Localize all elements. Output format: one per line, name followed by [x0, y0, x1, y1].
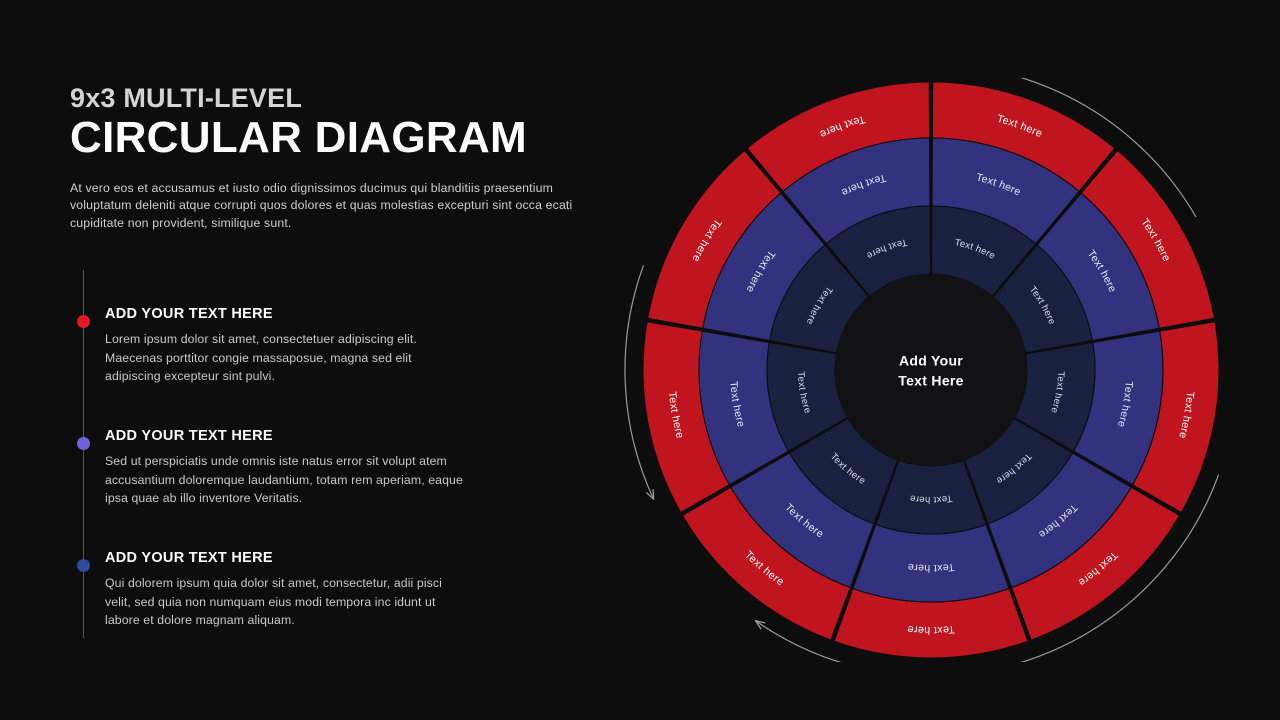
hub-label: Text Here — [898, 373, 963, 389]
bullet-dot-icon — [77, 559, 90, 572]
slide-root: 9x3 MULTI-LEVEL CIRCULAR DIAGRAM At vero… — [0, 0, 1280, 720]
page-title: CIRCULAR DIAGRAM — [70, 114, 630, 162]
hub-circle[interactable] — [835, 274, 1027, 466]
hub-label: Add Your — [899, 353, 963, 369]
list-item-title: ADD YOUR TEXT HERE — [105, 428, 590, 445]
segment-label-middle-5: Text here — [907, 561, 955, 574]
list-item-text: Qui dolorem ipsum quia dolor sit amet, c… — [105, 574, 465, 629]
segment-label-outer-5: Text here — [907, 623, 956, 636]
list-item[interactable]: ADD YOUR TEXT HERE Qui dolorem ipsum qui… — [70, 550, 590, 630]
list-item-title: ADD YOUR TEXT HERE — [105, 306, 590, 323]
list-item-title: ADD YOUR TEXT HERE — [105, 550, 590, 567]
diagram-hub: Add YourText Here — [835, 274, 1027, 466]
page-description: At vero eos et accusamus et iusto odio d… — [70, 180, 600, 233]
list-item-text: Sed ut perspiciatis unde omnis iste natu… — [105, 452, 465, 507]
header-block: 9x3 MULTI-LEVEL CIRCULAR DIAGRAM At vero… — [70, 84, 630, 233]
bullet-dot-icon — [77, 437, 90, 450]
list-item[interactable]: ADD YOUR TEXT HERE Sed ut perspiciatis u… — [70, 428, 590, 508]
arrow-arc-left-head-icon — [755, 621, 764, 629]
segment-label-inner-5: Text here — [909, 493, 953, 506]
circular-diagram: Add YourText Here Text hereText hereText… — [620, 78, 1242, 662]
list-item-text: Lorem ipsum dolor sit amet, consectetuer… — [105, 330, 465, 385]
list-item[interactable]: ADD YOUR TEXT HERE Lorem ipsum dolor sit… — [70, 306, 590, 386]
page-eyebrow: 9x3 MULTI-LEVEL — [70, 84, 630, 112]
timeline-list: ADD YOUR TEXT HERE Lorem ipsum dolor sit… — [70, 270, 610, 640]
bullet-dot-icon — [77, 315, 90, 328]
